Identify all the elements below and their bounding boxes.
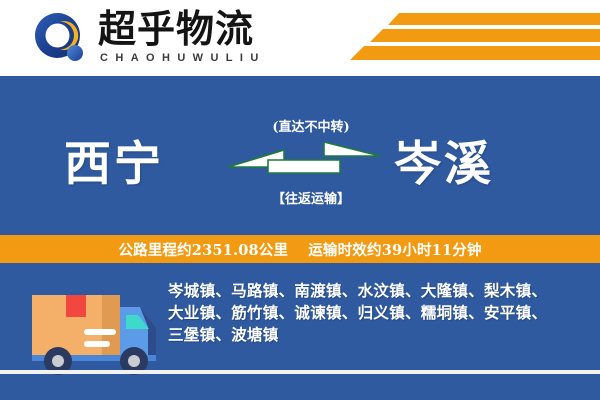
origin-city: 西宁 — [64, 125, 164, 194]
town-line: 大业镇、筋竹镇、诚谏镇、归义镇、糯垌镇、安平镇、 — [168, 302, 588, 324]
direct-shipping-note: (直达不中转) — [251, 116, 371, 135]
road-line — [0, 370, 600, 374]
town-line: 三堡镇、波塘镇 — [168, 324, 588, 346]
roundtrip-note: 【往返运输】 — [241, 188, 381, 207]
bidirectional-arrow-icon — [228, 142, 380, 182]
destination-city: 岑溪 — [394, 125, 494, 194]
delivery-truck-icon — [22, 277, 170, 377]
logistics-route-banner: 超乎物流 CHAOHUWULIU 西宁 (直达不中转) 【往返运输】 岑溪 公路… — [0, 0, 600, 400]
duration-text: 运输时效约39小时11分钟 — [308, 239, 481, 260]
circle-crescent-logo-icon — [33, 11, 89, 67]
covered-towns-list: 岑城镇、马路镇、南渡镇、水汶镇、大隆镇、梨木镇、 大业镇、筋竹镇、诚谏镇、归义镇… — [168, 280, 588, 346]
header-stripe-1 — [388, 13, 600, 25]
distance-text: 公路里程约2351.08公里 — [118, 239, 288, 260]
route-band: 西宁 (直达不中转) 【往返运输】 岑溪 — [0, 76, 600, 233]
town-line: 岑城镇、马路镇、南渡镇、水汶镇、大隆镇、梨木镇、 — [168, 280, 588, 302]
brand-name: 超乎物流 — [98, 8, 254, 50]
coverage-area: 岑城镇、马路镇、南渡镇、水汶镇、大隆镇、梨木镇、 大业镇、筋竹镇、诚谏镇、归义镇… — [0, 265, 600, 400]
banner-header: 超乎物流 CHAOHUWULIU — [0, 0, 600, 76]
header-stripe-2 — [370, 29, 600, 42]
header-stripe-3 — [350, 46, 600, 60]
route-info-bar: 公路里程约2351.08公里 运输时效约39小时11分钟 — [0, 233, 600, 265]
brand-pinyin: CHAOHUWULIU — [100, 52, 266, 64]
